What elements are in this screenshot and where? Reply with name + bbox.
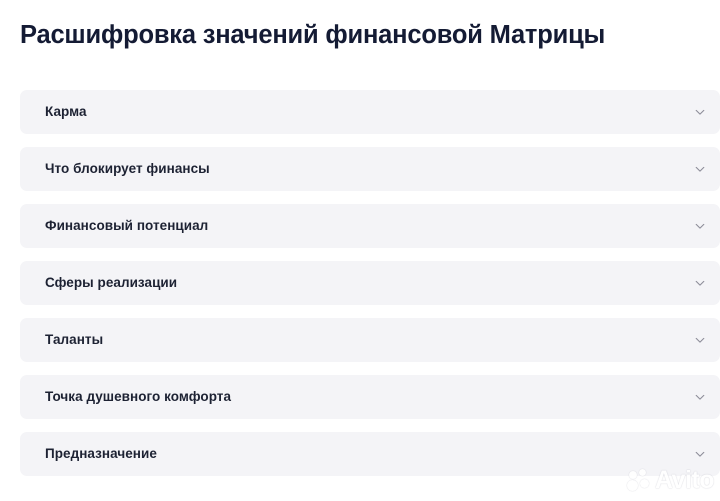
- chevron-down-icon[interactable]: [692, 161, 708, 177]
- accordion-item-label: Точка душевного комфорта: [45, 388, 231, 406]
- accordion-item-karma[interactable]: Карма: [20, 90, 720, 134]
- accordion-item-talanty[interactable]: Таланты: [20, 318, 720, 362]
- chevron-down-icon[interactable]: [692, 332, 708, 348]
- accordion-item-finansovyy-potentsial[interactable]: Финансовый потенциал: [20, 204, 720, 248]
- accordion-item-label: Финансовый потенциал: [45, 217, 208, 235]
- chevron-down-icon[interactable]: [692, 446, 708, 462]
- accordion-item-sfery-realizatsii[interactable]: Сферы реализации: [20, 261, 720, 305]
- accordion-item-label: Предназначение: [45, 445, 157, 463]
- accordion-item-label: Карма: [45, 103, 87, 121]
- accordion-item-label: Таланты: [45, 331, 103, 349]
- chevron-down-icon[interactable]: [692, 275, 708, 291]
- accordion-item-chto-blokiruet-finansy[interactable]: Что блокирует финансы: [20, 147, 720, 191]
- chevron-down-icon[interactable]: [692, 218, 708, 234]
- page-root: Расшифровка значений финансовой Матрицы …: [0, 0, 720, 501]
- page-title: Расшифровка значений финансовой Матрицы: [20, 19, 720, 51]
- chevron-down-icon[interactable]: [692, 389, 708, 405]
- chevron-down-icon[interactable]: [692, 104, 708, 120]
- accordion-item-prednaznachenie[interactable]: Предназначение: [20, 432, 720, 476]
- accordion-item-label: Сферы реализации: [45, 274, 177, 292]
- accordion-item-tochka-dushevnogo-komforta[interactable]: Точка душевного комфорта: [20, 375, 720, 419]
- accordion-list: Карма Что блокирует финансы Финансовый п…: [20, 90, 720, 489]
- accordion-item-label: Что блокирует финансы: [45, 160, 210, 178]
